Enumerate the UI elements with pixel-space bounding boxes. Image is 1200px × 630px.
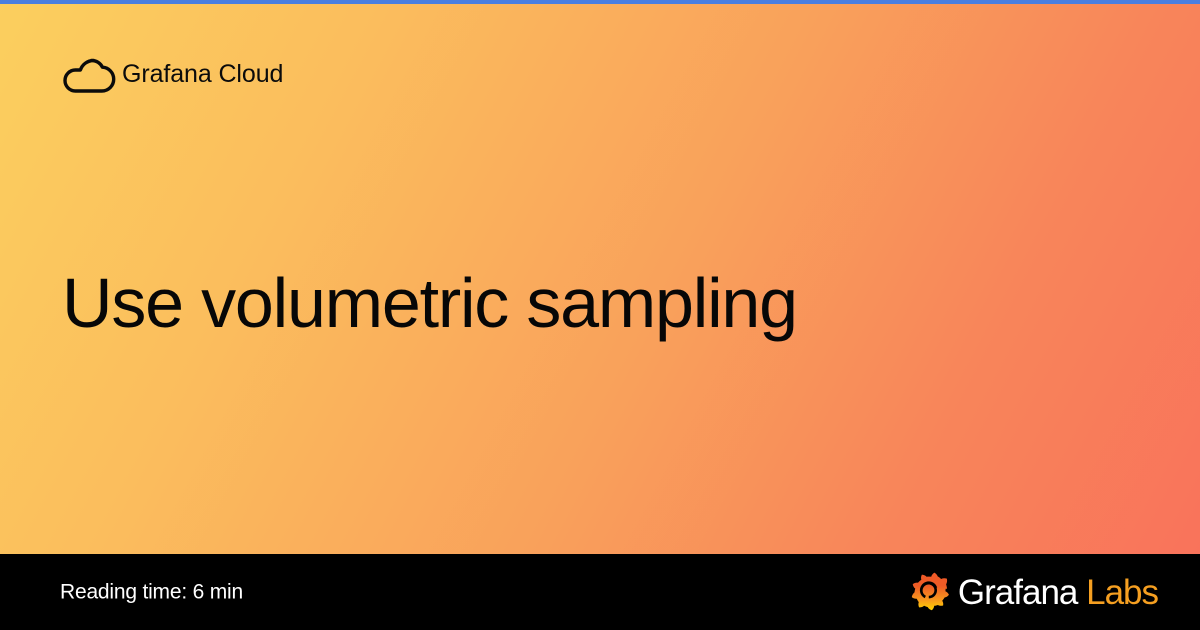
logo-word-grafana: Grafana <box>958 573 1077 612</box>
logo-word-labs: Labs <box>1077 573 1158 612</box>
card-footer: Reading time: 6 min Grafan <box>0 554 1200 630</box>
social-share-card: Grafana Cloud Use volumetric sampling Re… <box>0 0 1200 630</box>
hero-gradient-panel: Grafana Cloud Use volumetric sampling <box>0 0 1200 554</box>
accent-top-bar <box>0 0 1200 4</box>
grafana-labs-wordmark: Grafana Labs <box>958 575 1158 610</box>
brand-lockup: Grafana Cloud <box>60 52 283 96</box>
brand-label: Grafana Cloud <box>122 62 283 87</box>
reading-time-label: Reading time: 6 min <box>60 582 243 603</box>
cloud-icon <box>60 52 116 96</box>
grafana-labs-logo: Grafana Labs <box>907 569 1158 615</box>
grafana-sunburst-icon <box>907 571 949 613</box>
page-title: Use volumetric sampling <box>62 264 1122 342</box>
